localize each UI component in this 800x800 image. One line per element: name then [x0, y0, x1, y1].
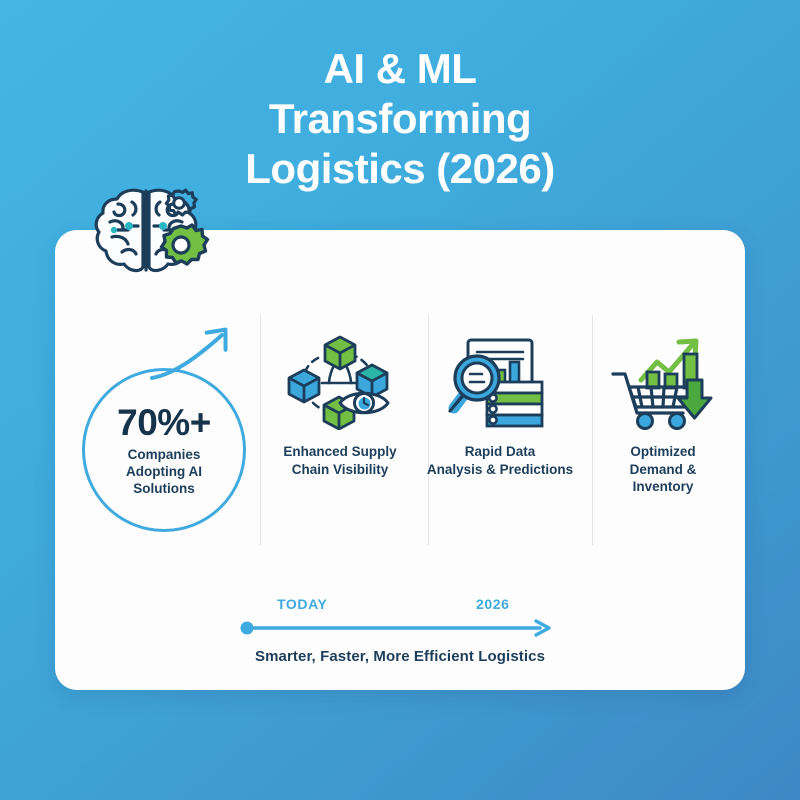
- timeline-end-label: 2026: [476, 596, 510, 612]
- feature-panel-label: Rapid Data Analysis & Predictions: [427, 443, 573, 478]
- feature-panel-label: Optimized Demand & Inventory: [630, 443, 697, 496]
- panel-2-label-line-2: Analysis & Predictions: [427, 461, 573, 479]
- brain-gears-icon: [88, 182, 210, 282]
- infographic-poster: AI & ML Transforming Logistics (2026): [0, 0, 800, 800]
- panel-3-label-line-2: Demand &: [630, 461, 697, 479]
- title-line-2: Transforming: [0, 94, 800, 144]
- tagline: Smarter, Faster, More Efficient Logistic…: [0, 648, 800, 665]
- supply-chain-cubes-eye-icon: [284, 330, 396, 430]
- stat-value: 70%+: [117, 403, 211, 443]
- panel-1-label-line-1: Enhanced Supply: [283, 443, 396, 461]
- panel-1-label-line-2: Chain Visibility: [283, 461, 396, 479]
- stat-caption-line-3: Solutions: [126, 480, 202, 497]
- panel-2-label-line-1: Rapid Data: [427, 443, 573, 461]
- stat-caption-line-1: Companies: [126, 446, 202, 463]
- magnifier-data-chart-icon: [444, 330, 556, 430]
- shopping-cart-trend-icon: [607, 330, 719, 430]
- timeline-start-label: TODAY: [277, 596, 327, 612]
- stat-caption-line-2: Adopting AI: [126, 463, 202, 480]
- timeline-axis-icon: [240, 618, 556, 638]
- panel-3-label-line-1: Optimized: [630, 443, 697, 461]
- feature-panel-demand-inventory: Optimized Demand & Inventory: [583, 330, 743, 496]
- panel-3-label-line-3: Inventory: [630, 478, 697, 496]
- timeline: TODAY 2026: [240, 596, 560, 642]
- stat-circle: 70%+ Companies Adopting AI Solutions: [82, 368, 246, 532]
- page-title: AI & ML Transforming Logistics (2026): [0, 44, 800, 194]
- title-line-1: AI & ML: [0, 44, 800, 94]
- feature-panel-label: Enhanced Supply Chain Visibility: [283, 443, 396, 478]
- feature-panel-supply-chain: Enhanced Supply Chain Visibility: [260, 330, 420, 478]
- feature-panel-data-analysis: Rapid Data Analysis & Predictions: [420, 330, 580, 478]
- stat-caption: Companies Adopting AI Solutions: [126, 446, 202, 497]
